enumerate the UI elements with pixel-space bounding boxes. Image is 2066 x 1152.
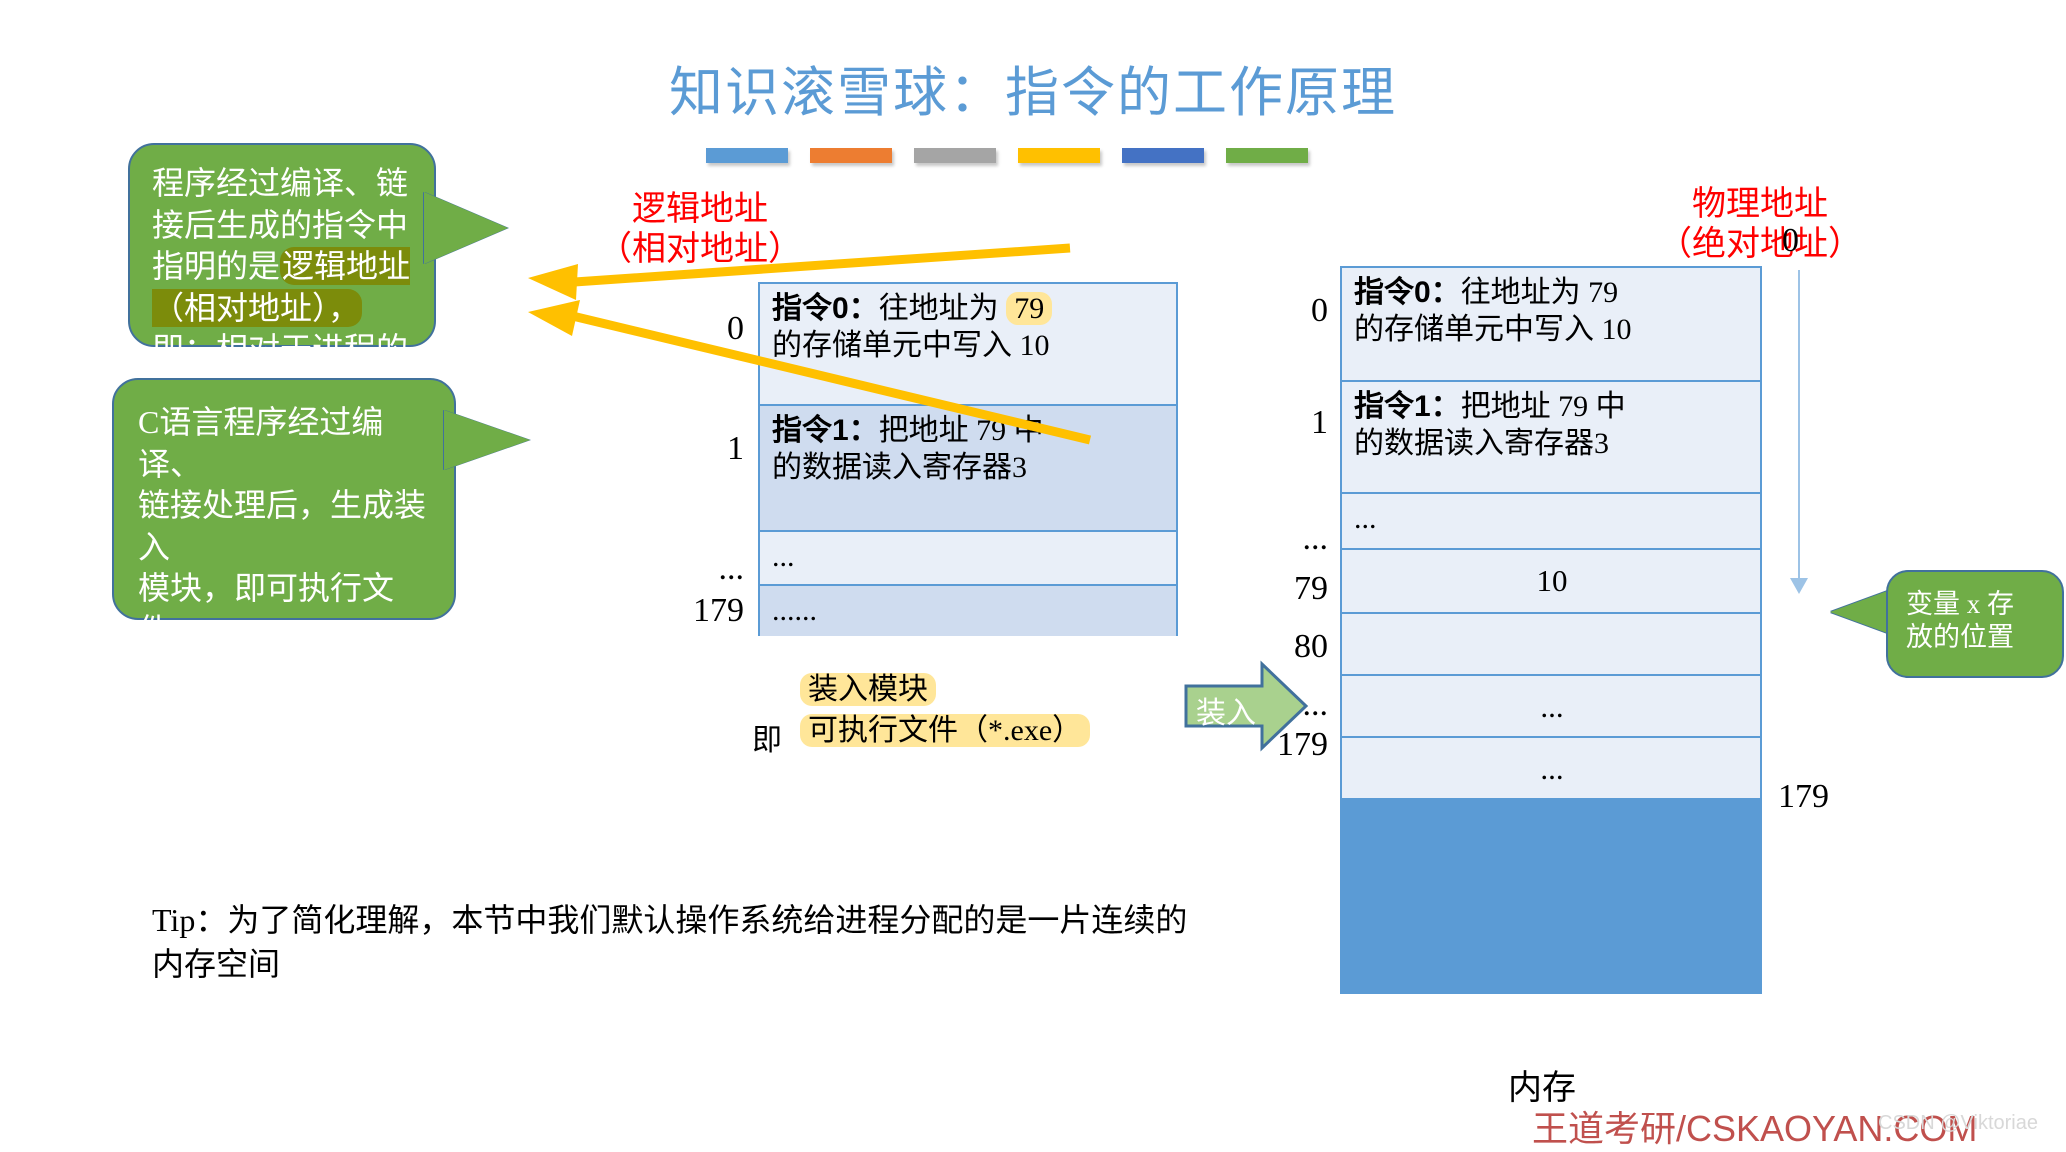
table-row <box>1342 614 1760 676</box>
logical-address-0: 0 <box>727 310 744 348</box>
logical-row0-text-b: 的存储单元中写入 10 <box>772 327 1166 364</box>
callout-logical-address: 程序经过编译、链接后生成的指令中指明的是逻辑地址（相对地址），即：相对于进程的起… <box>128 143 436 347</box>
table-row: 指令0：往地址为 79 的存储单元中写入 10 <box>1342 268 1760 382</box>
table-row: ... <box>1342 676 1760 738</box>
callout3-line1: 变量 x 存 <box>1906 588 2050 621</box>
load-arrow-label: 装入 <box>1196 688 1256 732</box>
callout-logical-address-pointer <box>424 192 508 264</box>
logical-row1-text-a: 把地址 79 中 <box>879 414 1044 447</box>
callout2-code2: x = x+1; <box>138 690 434 729</box>
logical-address-1: 1 <box>727 430 744 468</box>
physical-range-top-label: 0 <box>1782 222 1799 260</box>
physical-row5-text: ... <box>1342 676 1760 726</box>
logical-row0-text-a: 往地址为 <box>879 292 1007 325</box>
tip-text: Tip：为了简化理解，本节中我们默认操作系统给进程分配的是一片连续的内存空间 <box>152 898 1212 986</box>
physical-row6-text: ... <box>1342 738 1760 788</box>
physical-address-header: 物理地址 （绝对地址） <box>1600 185 1920 265</box>
ji-label: 即 <box>752 715 782 759</box>
physical-address-79: 79 <box>1294 570 1328 608</box>
callout2-line2: 链接处理后，生成装入 <box>138 485 434 568</box>
logical-address-table: 指令0：往地址为 79 的存储单元中写入 10 指令1：把地址 79 中 的数据… <box>758 282 1178 636</box>
callout3-line2: 放的位置 <box>1906 621 2050 654</box>
physical-row0-text-b: 的存储单元中写入 10 <box>1354 311 1750 348</box>
logical-row1-text-b: 的数据读入寄存器3 <box>772 449 1166 486</box>
table-row: ... <box>760 532 1176 586</box>
callout-variable-x-pointer <box>1830 590 1890 634</box>
callout-load-module: C语言程序经过编译、 链接处理后，生成装入 模块，即可执行文件： int x =… <box>112 378 456 620</box>
logical-address-ellipsis: ... <box>719 550 745 588</box>
table-row: 指令0：往地址为 79 的存储单元中写入 10 <box>760 284 1176 406</box>
physical-address-80: 80 <box>1294 628 1328 666</box>
table-row: ... <box>1342 494 1760 550</box>
physical-address-179: 179 <box>1277 726 1328 764</box>
page-title: 知识滚雪球：指令的工作原理 <box>0 48 2066 127</box>
table-row: ... <box>1342 738 1760 800</box>
pointer-arrowhead-2 <box>528 300 580 336</box>
swatch-2 <box>810 148 892 163</box>
physical-memory-table: 指令0：往地址为 79 的存储单元中写入 10 指令1：把地址 79 中 的数据… <box>1340 266 1762 798</box>
table-row: 指令1：把地址 79 中 的数据读入寄存器3 <box>760 406 1176 532</box>
csdn-watermark: CSDN @Viktoriae <box>1878 1112 2038 1135</box>
logical-row1-label: 指令1： <box>772 414 879 447</box>
logical-row0-highlight: 79 <box>1006 292 1052 325</box>
swatch-6 <box>1226 148 1308 163</box>
callout2-code1: int x = 10; <box>138 652 434 691</box>
logical-row2-text: ... <box>760 532 1176 575</box>
physical-row0-label: 指令0： <box>1354 276 1461 309</box>
table-row: ...... <box>760 586 1176 636</box>
logical-row0-label: 指令0： <box>772 292 879 325</box>
callout2-line3: 模块，即可执行文件： <box>138 568 434 651</box>
physical-row1-label: 指令1： <box>1354 390 1461 423</box>
load-module-label: 装入模块 可执行文件（*.exe） <box>800 672 1220 749</box>
physical-range-arrowhead-icon <box>1790 578 1808 594</box>
logical-address-179: 179 <box>693 592 744 630</box>
physical-row1-content: 指令1：把地址 79 中 的数据读入寄存器3 <box>1342 382 1760 462</box>
table-row: 10 <box>1342 550 1760 614</box>
physical-row4-text <box>1342 614 1760 626</box>
physical-address-header-line1: 物理地址 <box>1600 185 1920 225</box>
physical-address-header-line2: （绝对地址） <box>1600 225 1920 265</box>
color-swatch-strip <box>706 148 1346 164</box>
swatch-3 <box>914 148 996 163</box>
logical-row0-content: 指令0：往地址为 79 的存储单元中写入 10 <box>760 284 1176 364</box>
table-row: 指令1：把地址 79 中 的数据读入寄存器3 <box>1342 382 1760 494</box>
callout-variable-x: 变量 x 存 放的位置 <box>1886 570 2064 678</box>
physical-row3-text: 10 <box>1342 550 1760 600</box>
swatch-5 <box>1122 148 1204 163</box>
physical-address-ellipsis-1: ... <box>1303 520 1329 558</box>
physical-range-line <box>1798 270 1800 582</box>
physical-address-0: 0 <box>1311 292 1328 330</box>
callout2-line1: C语言程序经过编译、 <box>138 402 434 485</box>
physical-row2-text: ... <box>1342 494 1760 537</box>
load-module-line1-text: 装入模块 <box>800 673 936 706</box>
logical-address-header-line2: （相对地址） <box>560 230 840 270</box>
callout-load-module-pointer <box>444 410 530 470</box>
physical-row1-text-b: 的数据读入寄存器3 <box>1354 425 1750 462</box>
swatch-1 <box>706 148 788 163</box>
logical-address-header-line1: 逻辑地址 <box>560 190 840 230</box>
physical-row0-content: 指令0：往地址为 79 的存储单元中写入 10 <box>1342 268 1760 348</box>
physical-address-ellipsis-2: ... <box>1303 686 1329 724</box>
load-module-line2: 可执行文件（*.exe） <box>800 713 1220 748</box>
physical-row0-text-a: 往地址为 79 <box>1461 276 1619 309</box>
load-module-line2-text: 可执行文件（*.exe） <box>800 714 1090 747</box>
swatch-4 <box>1018 148 1100 163</box>
physical-address-1: 1 <box>1311 404 1328 442</box>
logical-address-header: 逻辑地址 （相对地址） <box>560 190 840 270</box>
physical-range-bottom-label: 179 <box>1778 778 1829 816</box>
memory-free-block <box>1340 798 1762 994</box>
physical-row1-text-a: 把地址 79 中 <box>1461 390 1626 423</box>
logical-row1-content: 指令1：把地址 79 中 的数据读入寄存器3 <box>760 406 1176 486</box>
load-module-line1: 装入模块 <box>800 672 1220 707</box>
logical-row3-text: ...... <box>760 586 1176 629</box>
